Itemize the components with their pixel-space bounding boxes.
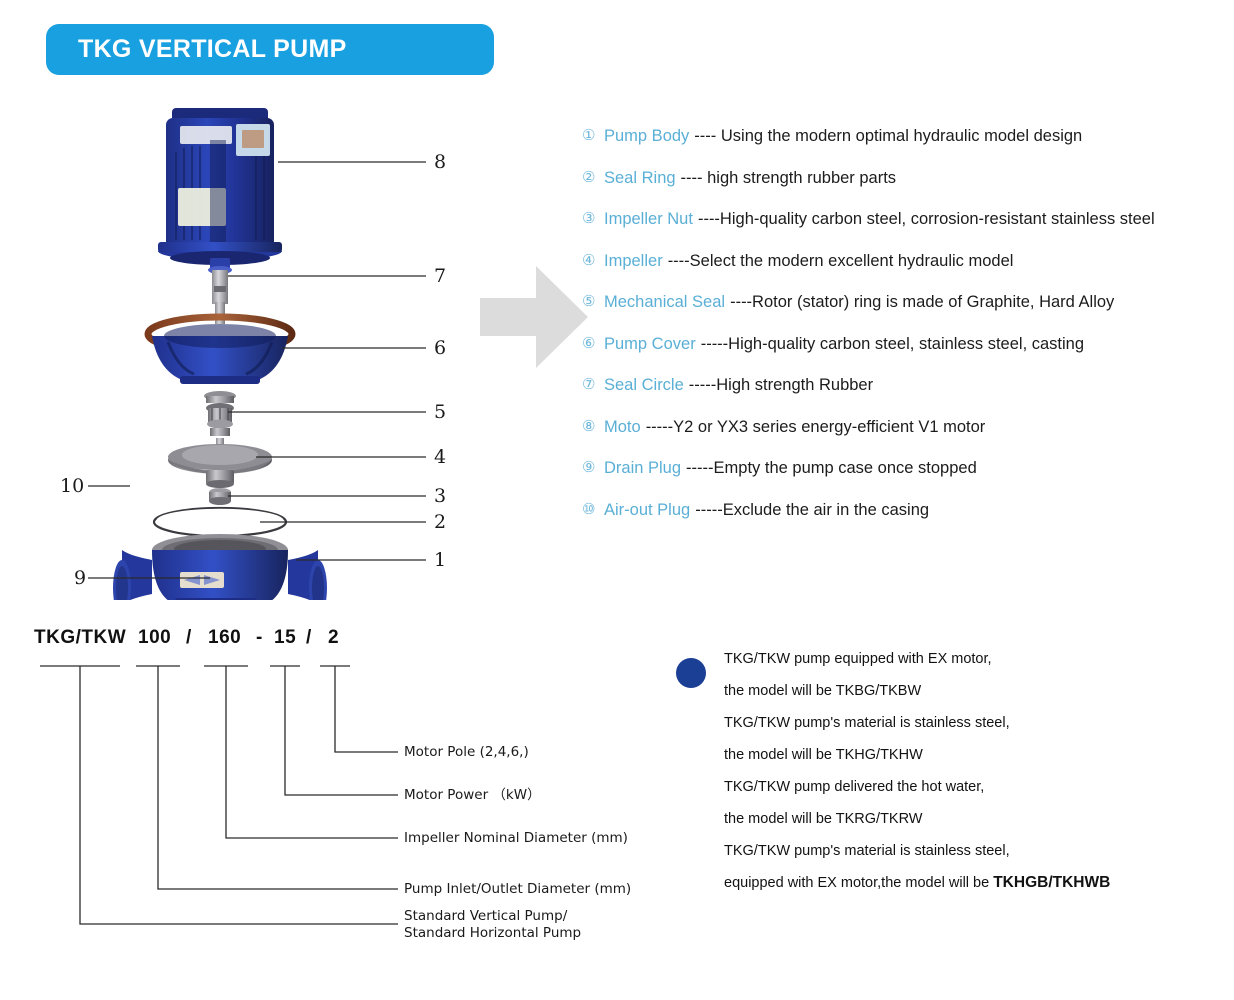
- legend-part-name: Seal Ring: [604, 168, 676, 188]
- part-impeller: [168, 438, 272, 488]
- legend-part-name: Pump Body: [604, 126, 689, 146]
- legend-description: ---- high strength rubber parts: [681, 168, 897, 188]
- legend-description: ----Rotor (stator) ring is made of Graph…: [730, 292, 1114, 312]
- note-text: equipped with EX motor,the model will be: [724, 875, 993, 891]
- legend-part-name: Pump Cover: [604, 334, 696, 354]
- model-label-inlet-outlet-diameter: Pump Inlet/Outlet Diameter (mm): [404, 881, 631, 898]
- callout-number-8: 8: [434, 151, 446, 173]
- callout-number-6: 6: [434, 337, 446, 359]
- legend-number: ⑧: [582, 417, 604, 437]
- model-label-motor-power: Motor Power （kW）: [404, 787, 541, 804]
- legend-description: -----High strength Rubber: [689, 375, 873, 395]
- legend-number: ②: [582, 168, 604, 188]
- note-line: TKG/TKW pump delivered the hot water,: [724, 778, 1206, 810]
- legend-number: ④: [582, 251, 604, 271]
- page-title: TKG VERTICAL PUMP: [78, 35, 347, 64]
- legend-item: ④ Impeller ----Select the modern excelle…: [582, 251, 1232, 293]
- bullet-icon: [676, 658, 706, 688]
- flow-arrow: [480, 258, 590, 376]
- legend-description: ----High-quality carbon steel, corrosion…: [698, 209, 1155, 229]
- legend-item: ⑩ Air-out Plug -----Exclude the air in t…: [582, 500, 1232, 542]
- callout-number-2: 2: [434, 511, 446, 533]
- note-line: TKG/TKW pump's material is stainless ste…: [724, 714, 1206, 746]
- legend-description: -----Empty the pump case once stopped: [686, 458, 977, 478]
- legend-part-name: Impeller: [604, 251, 663, 271]
- callout-number-3: 3: [434, 485, 446, 507]
- legend-description: -----High-quality carbon steel, stainles…: [701, 334, 1084, 354]
- callout-number-10: 10: [60, 475, 84, 497]
- legend-description: -----Exclude the air in the casing: [695, 500, 929, 520]
- part-motor: [158, 108, 282, 265]
- model-code-breakdown: TKG/TKW 100 / 160 - 15 / 2 Motor Pol: [0, 615, 640, 975]
- legend-number: ⑨: [582, 458, 604, 478]
- legend-part-name: Moto: [604, 417, 641, 437]
- model-label-motor-pole: Motor Pole (2,4,6,): [404, 744, 529, 761]
- legend-number: ⑤: [582, 292, 604, 312]
- exploded-pump-diagram: 8 7 6 5 4 3 2 1 10 9: [60, 90, 460, 600]
- legend-item: ⑦ Seal Circle -----High strength Rubber: [582, 375, 1232, 417]
- legend-number: ⑦: [582, 375, 604, 395]
- legend-part-name: Air-out Plug: [604, 500, 690, 520]
- callout-number-5: 5: [434, 401, 446, 423]
- callout-number-7: 7: [434, 265, 446, 287]
- model-label-impeller-diameter: Impeller Nominal Diameter (mm): [404, 830, 628, 847]
- legend-part-name: Drain Plug: [604, 458, 681, 478]
- legend-number: ⑥: [582, 334, 604, 354]
- note-line-last: equipped with EX motor,the model will be…: [724, 874, 1206, 906]
- model-label-standard-pump: Standard Vertical Pump/ Standard Horizon…: [404, 908, 581, 942]
- note-model-bold: TKHGB/TKHWB: [993, 874, 1110, 891]
- legend-part-name: Impeller Nut: [604, 209, 693, 229]
- page-title-banner: TKG VERTICAL PUMP: [46, 24, 494, 75]
- legend-part-name: Seal Circle: [604, 375, 684, 395]
- legend-item: ⑤ Mechanical Seal ----Rotor (stator) rin…: [582, 292, 1232, 334]
- legend-item: ⑨ Drain Plug -----Empty the pump case on…: [582, 458, 1232, 500]
- legend-number: ③: [582, 209, 604, 229]
- legend-item: ③ Impeller Nut ----High-quality carbon s…: [582, 209, 1232, 251]
- note-line: TKG/TKW pump equipped with EX motor,: [724, 650, 1206, 682]
- note-line: the model will be TKRG/TKRW: [724, 810, 1206, 842]
- legend-description: -----Y2 or YX3 series energy-efficient V…: [646, 417, 986, 437]
- note-line: TKG/TKW pump's material is stainless ste…: [724, 842, 1206, 874]
- part-impeller-nut: [209, 488, 231, 505]
- legend-item: ⑥ Pump Cover -----High-quality carbon st…: [582, 334, 1232, 376]
- legend-description: ---- Using the modern optimal hydraulic …: [694, 126, 1082, 146]
- callout-number-4: 4: [434, 446, 446, 468]
- part-mechanical-seal: [204, 391, 236, 436]
- note-line: the model will be TKBG/TKBW: [724, 682, 1206, 714]
- callout-number-9: 9: [74, 567, 86, 589]
- legend-number: ①: [582, 126, 604, 146]
- legend-item: ② Seal Ring ---- high strength rubber pa…: [582, 168, 1232, 210]
- legend-description: ----Select the modern excellent hydrauli…: [668, 251, 1014, 271]
- legend-part-name: Mechanical Seal: [604, 292, 725, 312]
- note-line: the model will be TKHG/TKHW: [724, 746, 1206, 778]
- callout-number-1: 1: [434, 549, 446, 571]
- part-pump-cover: [148, 317, 292, 384]
- legend-number: ⑩: [582, 500, 604, 520]
- legend-item: ① Pump Body ---- Using the modern optima…: [582, 126, 1232, 168]
- part-pump-body: [113, 534, 327, 600]
- legend-item: ⑧ Moto -----Y2 or YX3 series energy-effi…: [582, 417, 1232, 459]
- model-variant-notes: TKG/TKW pump equipped with EX motor, the…: [676, 650, 1206, 906]
- parts-legend: ① Pump Body ---- Using the modern optima…: [582, 126, 1232, 541]
